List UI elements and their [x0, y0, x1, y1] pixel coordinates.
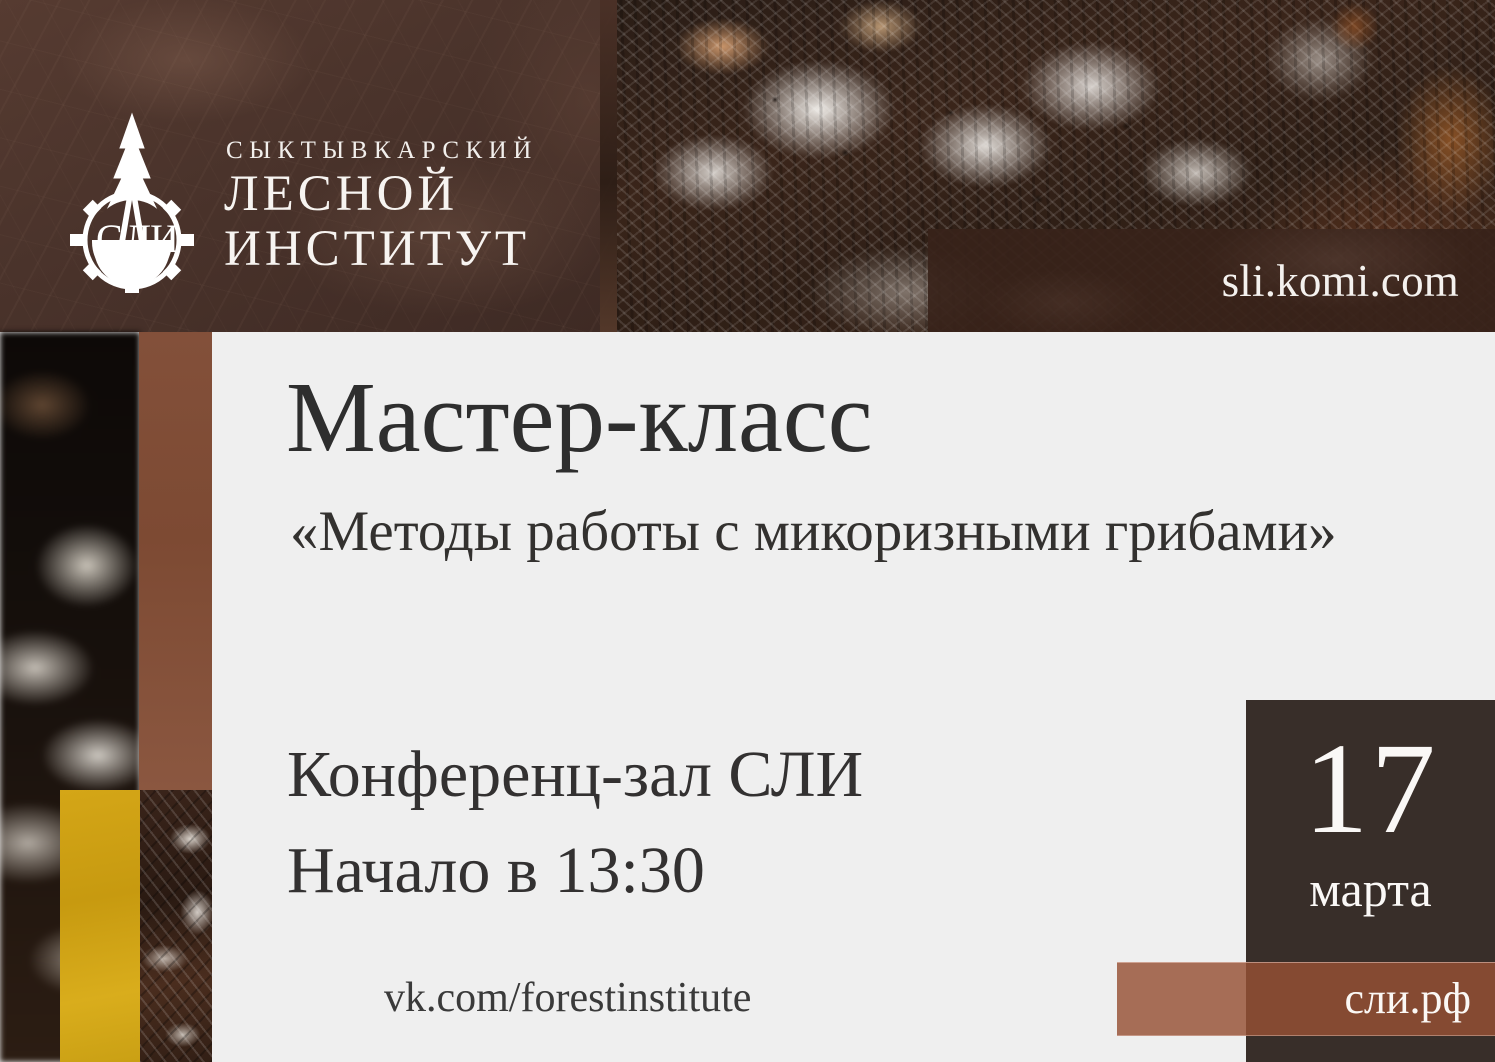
org-name-line1: ЛЕСНОЙ: [224, 167, 538, 221]
event-time: Начало в 13:30: [287, 823, 705, 919]
logo-wordmark: СЫКТЫВКАРСКИЙ ЛЕСНОЙ ИНСТИТУТ: [224, 130, 538, 275]
decor-gold-block: [60, 790, 140, 1062]
social-link[interactable]: vk.com/forestinstitute: [384, 977, 751, 1019]
org-city: СЫКТЫВКАРСКИЙ: [226, 138, 538, 163]
site-url: сли.рф: [1344, 977, 1471, 1021]
website-chip[interactable]: sli.komi.com: [928, 229, 1495, 332]
page-title: Мастер-класс: [286, 367, 873, 468]
decor-brown-column: [139, 332, 212, 790]
logo-lockup: С Л И СЫКТЫВКАРСКИЙ ЛЕСНОЙ ИНСТИТУТ: [62, 108, 532, 298]
decor-photo-strip: [139, 790, 212, 1062]
poster-root: С Л И СЫКТЫВКАРСКИЙ ЛЕСНОЙ ИНСТИТУТ sli.…: [0, 0, 1495, 1062]
header-photo-sliver: [600, 0, 618, 332]
site-bar[interactable]: сли.рф: [1117, 962, 1495, 1036]
header-band: С Л И СЫКТЫВКАРСКИЙ ЛЕСНОЙ ИНСТИТУТ sli.…: [0, 0, 1495, 332]
svg-text:С: С: [96, 216, 123, 261]
page-subtitle: «Методы работы с микоризными грибами»: [290, 492, 1410, 573]
org-name-line2: ИНСТИТУТ: [224, 222, 538, 276]
date-day: 17: [1304, 724, 1438, 854]
website-url: sli.komi.com: [1222, 255, 1459, 307]
sli-fir-tree-gear-logo-icon: С Л И: [62, 108, 202, 298]
svg-text:И: И: [150, 216, 179, 261]
event-venue: Конференц-зал СЛИ: [287, 727, 863, 823]
date-month: марта: [1309, 864, 1432, 914]
